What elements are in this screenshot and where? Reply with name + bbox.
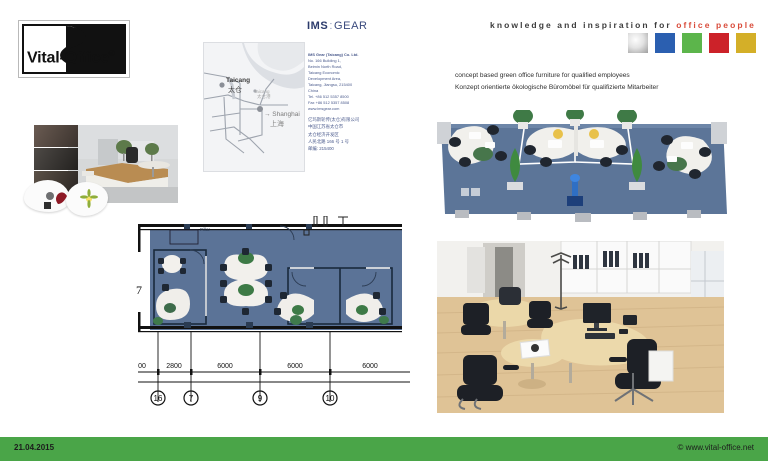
collage-thumb-2 xyxy=(34,148,78,170)
footer-copyright[interactable]: © www.vital-office.net xyxy=(678,443,754,452)
floor-plan-drawing: 167910 002800600060006000 7 xyxy=(128,216,420,416)
collage-thumb-1 xyxy=(34,125,78,147)
svg-text:7: 7 xyxy=(189,394,194,403)
photo-collage xyxy=(20,112,190,217)
concept-caption: concept based green office furniture for… xyxy=(455,70,658,93)
address-block: IMS Gear (Taicang) Co. Ltd. No. 166 Buil… xyxy=(308,52,378,112)
footer-bar: 21.04.2015 © www.vital-office.net xyxy=(0,437,768,461)
render-3d-graphic xyxy=(437,110,759,230)
ims-gear-logo: IMS:GEAR xyxy=(307,20,368,32)
swatch-green xyxy=(682,33,702,53)
concept-caption-en: concept based green office furniture for… xyxy=(455,70,658,82)
swatch-red xyxy=(709,33,729,53)
render-3d-overview xyxy=(437,110,759,230)
address-cn-line-3: 太仓经济开发区 xyxy=(308,131,378,138)
flower-icon xyxy=(78,188,100,210)
swatch-silver xyxy=(628,33,648,53)
map-label-taicang-cn: 太仓 xyxy=(228,85,242,95)
map-graphic xyxy=(204,43,304,171)
logo-wordmark: Vital-Office® xyxy=(27,49,114,67)
tagline: knowledge and inspiration for office peo… xyxy=(490,20,756,30)
address-cn-line-5: 邮编: 215400 xyxy=(308,145,378,152)
address-website[interactable]: www.imsgear.com xyxy=(308,106,378,112)
concept-caption-de: Konzept orientierte ökologische Büromöbe… xyxy=(455,82,658,94)
svg-text:10: 10 xyxy=(326,394,335,403)
logo-wordmark-text: Vital-Office xyxy=(27,49,109,66)
address-cn-line-1: 亿玛斯轮传(太仓)有限公司 xyxy=(308,116,378,123)
svg-text:6000: 6000 xyxy=(287,363,303,370)
svg-text:00: 00 xyxy=(138,363,146,370)
vital-office-logo: Vital-Office® xyxy=(18,20,130,78)
office-photo xyxy=(437,241,724,413)
tagline-main: knowledge and inspiration for xyxy=(490,20,676,30)
office-photo-graphic xyxy=(437,241,724,413)
svg-text:6000: 6000 xyxy=(362,363,378,370)
ims-logo-gear: GEAR xyxy=(334,20,368,32)
svg-text:16: 16 xyxy=(154,394,163,403)
map-label-taicang: Taicang xyxy=(226,77,250,84)
tagline-accent: office people xyxy=(676,20,756,30)
address-cn-line-4: 人民北路 166 号 1 号 xyxy=(308,138,378,145)
map-label-shanghai: → Shanghai xyxy=(264,111,300,118)
map-label-shanghai-cn: 上海 xyxy=(270,119,284,129)
svg-text:2800: 2800 xyxy=(166,363,182,370)
ims-logo-ims: IMS xyxy=(307,20,328,32)
logo-registered-mark: ® xyxy=(109,49,115,58)
svg-text:9: 9 xyxy=(258,394,263,403)
svg-text:7: 7 xyxy=(136,283,142,297)
map-label-secondary-cn: 太仓港 xyxy=(257,94,271,100)
footer-date: 21.04.2015 xyxy=(14,443,54,452)
ims-logo-separator: : xyxy=(329,20,333,32)
floor-plan: 167910 002800600060006000 7 Pillar xyxy=(128,216,420,416)
swatch-gold xyxy=(736,33,756,53)
svg-text:6000: 6000 xyxy=(217,363,233,370)
swatch-blue xyxy=(655,33,675,53)
color-swatch-row xyxy=(628,33,756,53)
presentation-page: Vital-Office® IMS:GEAR xyxy=(0,0,768,461)
collage-accessories-icon xyxy=(42,188,72,210)
location-map: Taicang 太仓 Taicang 太仓港 → Shanghai 上海 xyxy=(203,42,305,172)
floor-plan-pillar-label: Pillar xyxy=(200,227,210,232)
address-block-chinese: 亿玛斯轮传(太仓)有限公司 中国江苏省太仓市 太仓经济开发区 人民北路 166 … xyxy=(308,116,378,152)
address-cn-line-2: 中国江苏省太仓市 xyxy=(308,123,378,130)
